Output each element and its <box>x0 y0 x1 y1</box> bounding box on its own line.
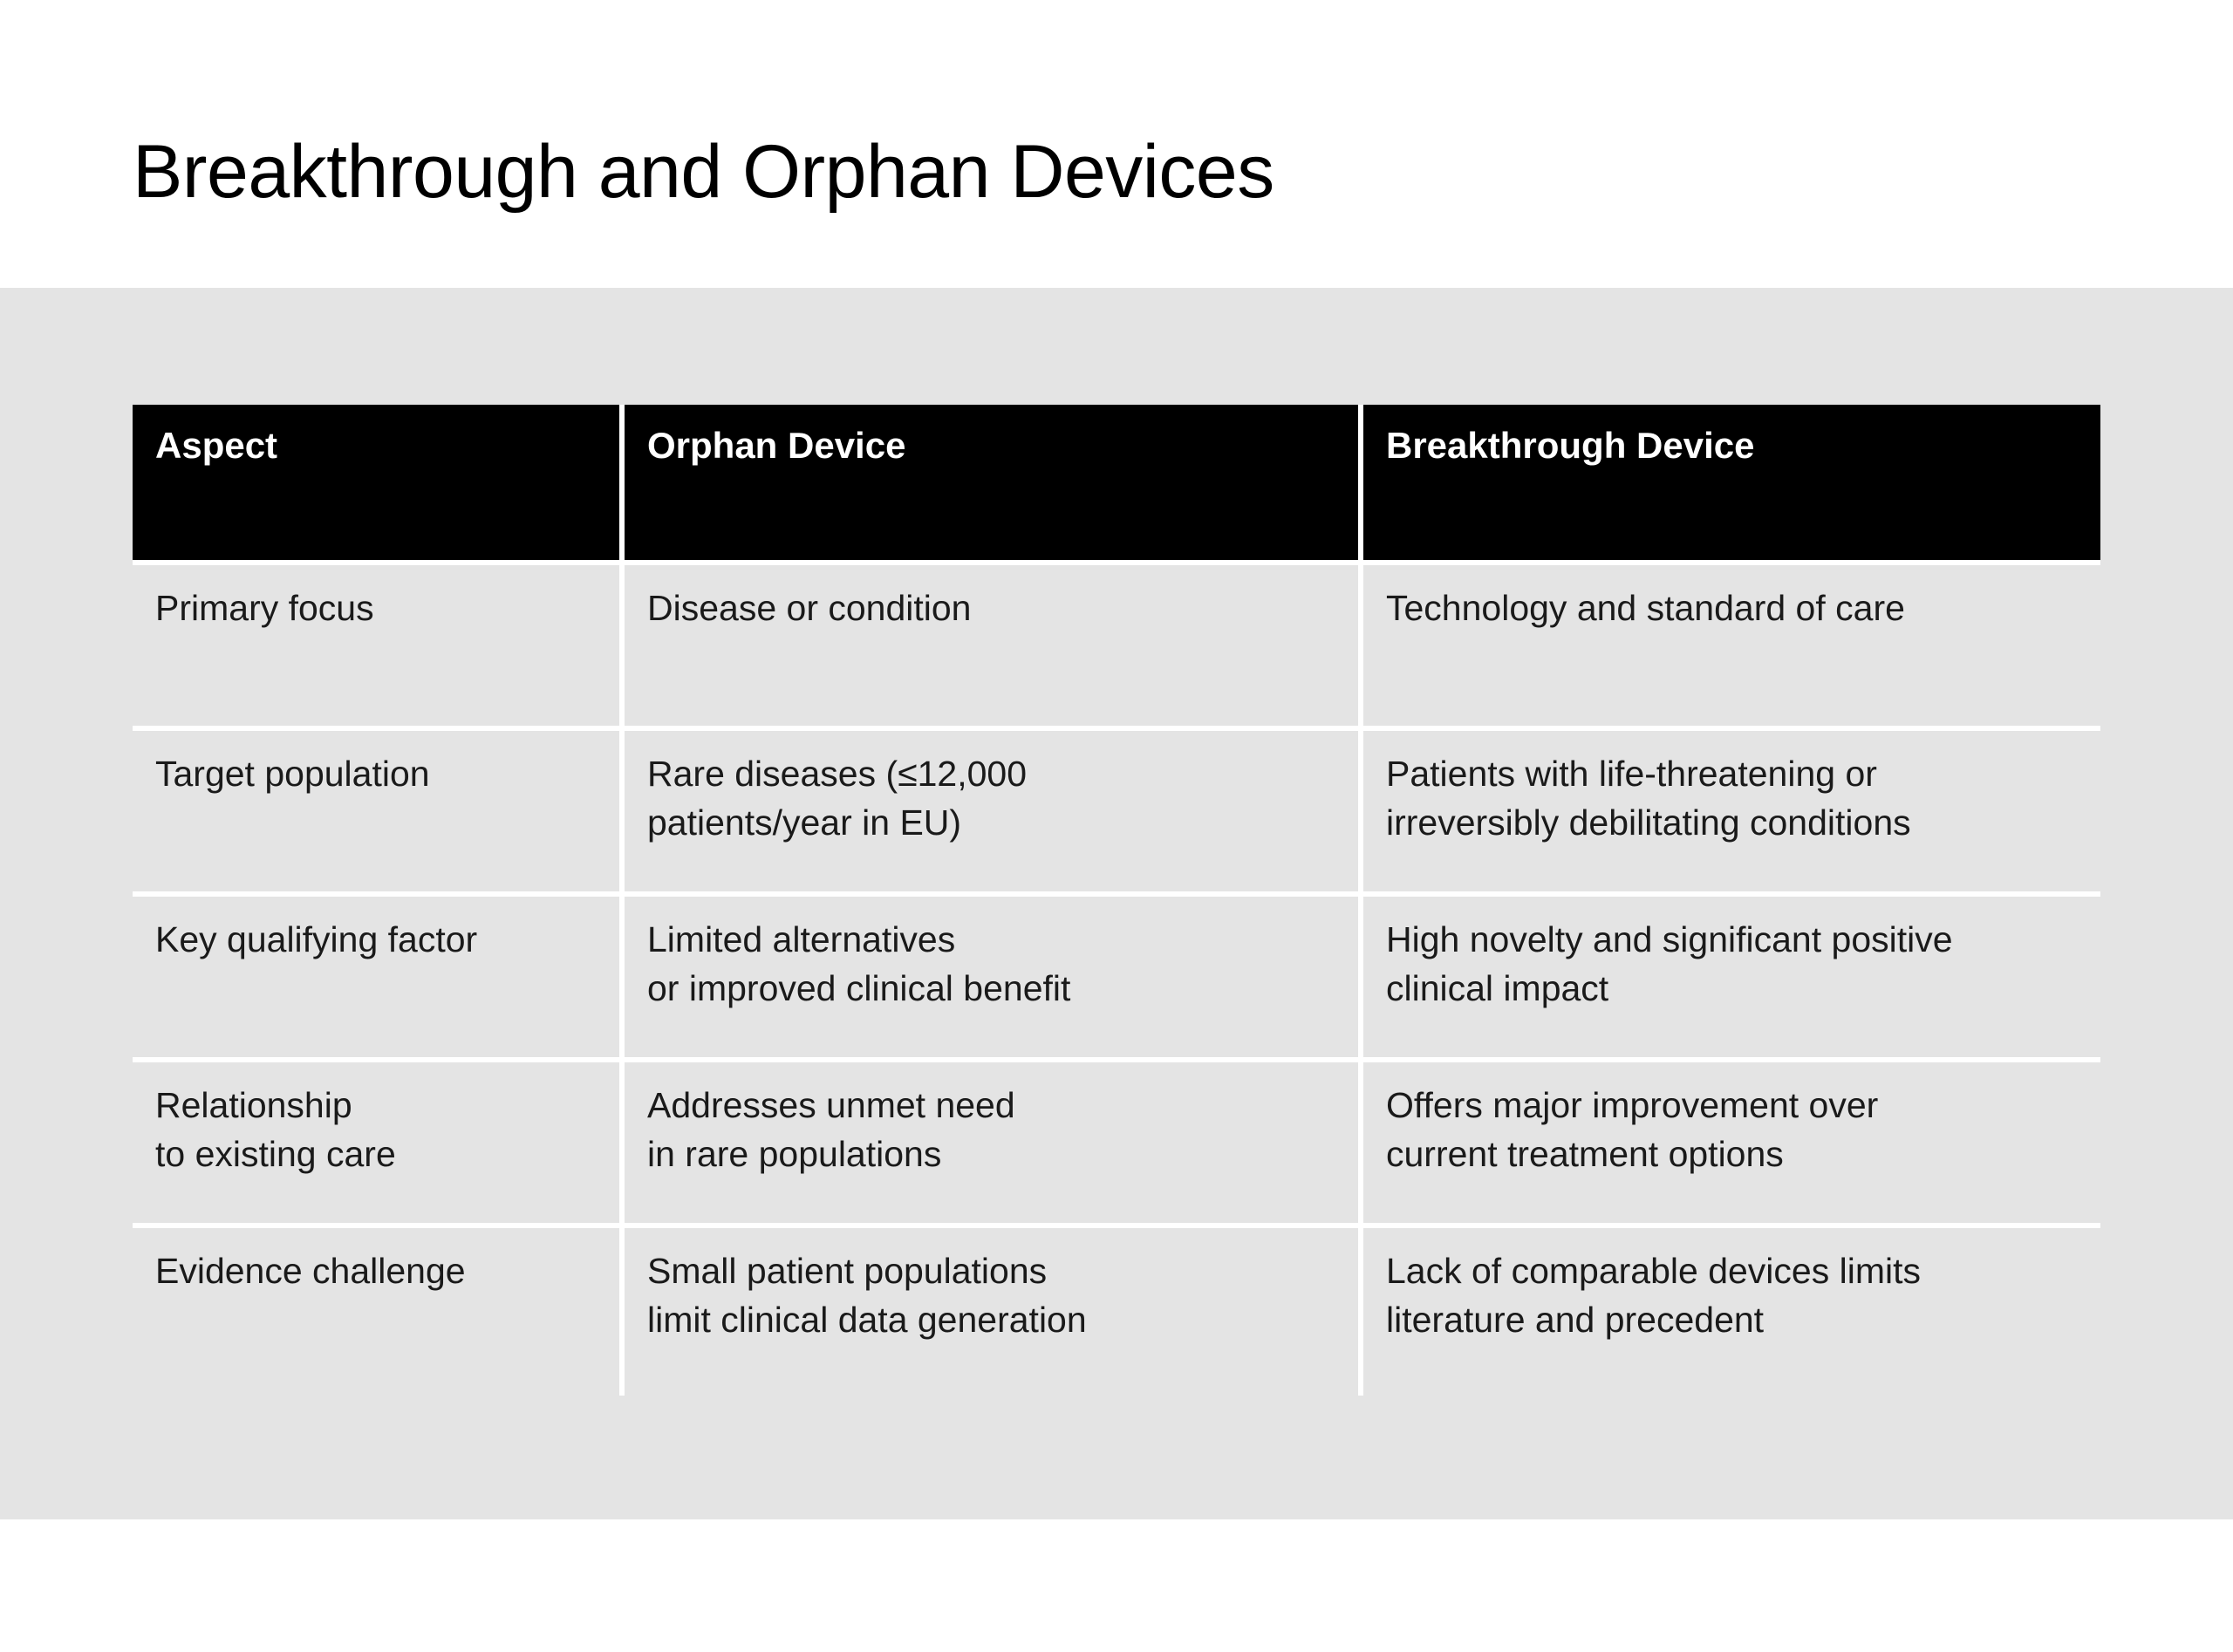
table-body: Primary focus Disease or condition Techn… <box>133 565 2100 1396</box>
table-row: Target population Rare diseases (≤12,000… <box>133 731 2100 897</box>
table-row: Primary focus Disease or condition Techn… <box>133 565 2100 731</box>
cell-aspect: Evidence challenge <box>133 1228 625 1396</box>
cell-aspect: Key qualifying factor <box>133 897 625 1062</box>
cell-breakthrough-device: Patients with life-threatening or irreve… <box>1363 731 2100 897</box>
cell-text-line: Primary focus <box>155 584 597 633</box>
cell-orphan-device: Addresses unmet need in rare populations <box>625 1062 1363 1228</box>
column-header-breakthrough-device: Breakthrough Device <box>1363 405 2100 565</box>
cell-text-line: Offers major improvement over <box>1386 1082 2078 1130</box>
cell-text-line: Relationship <box>155 1082 597 1130</box>
cell-text-line: Key qualifying factor <box>155 916 597 965</box>
cell-orphan-device: Rare diseases (≤12,000 patients/year in … <box>625 731 1363 897</box>
cell-text-line: Technology and standard of care <box>1386 584 2078 633</box>
cell-text-line: Patients with life-threatening or <box>1386 750 2078 799</box>
cell-text-line: High novelty and significant positive <box>1386 916 2078 965</box>
table-header: Aspect Orphan Device Breakthrough Device <box>133 405 2100 565</box>
cell-text-line: clinical impact <box>1386 965 2078 1014</box>
cell-orphan-device: Disease or condition <box>625 565 1363 731</box>
cell-aspect: Target population <box>133 731 625 897</box>
cell-text-line: irreversibly debilitating conditions <box>1386 799 2078 848</box>
cell-text-line: Target population <box>155 750 597 799</box>
cell-text-line: limit clinical data generation <box>647 1296 1335 1345</box>
cell-text-line: Limited alternatives <box>647 916 1335 965</box>
cell-aspect: Relationship to existing care <box>133 1062 625 1228</box>
cell-text-line: Disease or condition <box>647 584 1335 633</box>
cell-text-line: patients/year in EU) <box>647 799 1335 848</box>
column-header-aspect: Aspect <box>133 405 625 565</box>
device-comparison-table: Aspect Orphan Device Breakthrough Device… <box>133 405 2100 1396</box>
cell-breakthrough-device: Technology and standard of care <box>1363 565 2100 731</box>
cell-text-line: Addresses unmet need <box>647 1082 1335 1130</box>
cell-text-line: Lack of comparable devices limits <box>1386 1247 2078 1296</box>
cell-breakthrough-device: Offers major improvement over current tr… <box>1363 1062 2100 1228</box>
cell-text-line: Rare diseases (≤12,000 <box>647 750 1335 799</box>
cell-text-line: current treatment options <box>1386 1130 2078 1179</box>
cell-text-line: Evidence challenge <box>155 1247 597 1296</box>
table-row: Relationship to existing care Addresses … <box>133 1062 2100 1228</box>
cell-text-line: to existing care <box>155 1130 597 1179</box>
page-title: Breakthrough and Orphan Devices <box>133 134 2052 209</box>
cell-aspect: Primary focus <box>133 565 625 731</box>
cell-breakthrough-device: High novelty and significant positive cl… <box>1363 897 2100 1062</box>
cell-text-line: in rare populations <box>647 1130 1335 1179</box>
table-header-row: Aspect Orphan Device Breakthrough Device <box>133 405 2100 565</box>
column-header-orphan-device: Orphan Device <box>625 405 1363 565</box>
cell-text-line: or improved clinical benefit <box>647 965 1335 1014</box>
cell-text-line: literature and precedent <box>1386 1296 2078 1345</box>
cell-orphan-device: Small patient populations limit clinical… <box>625 1228 1363 1396</box>
table-row: Evidence challenge Small patient populat… <box>133 1228 2100 1396</box>
slide: Breakthrough and Orphan Devices Aspect O… <box>0 0 2233 1652</box>
table-row: Key qualifying factor Limited alternativ… <box>133 897 2100 1062</box>
cell-text-line: Small patient populations <box>647 1247 1335 1296</box>
cell-orphan-device: Limited alternatives or improved clinica… <box>625 897 1363 1062</box>
cell-breakthrough-device: Lack of comparable devices limits litera… <box>1363 1228 2100 1396</box>
